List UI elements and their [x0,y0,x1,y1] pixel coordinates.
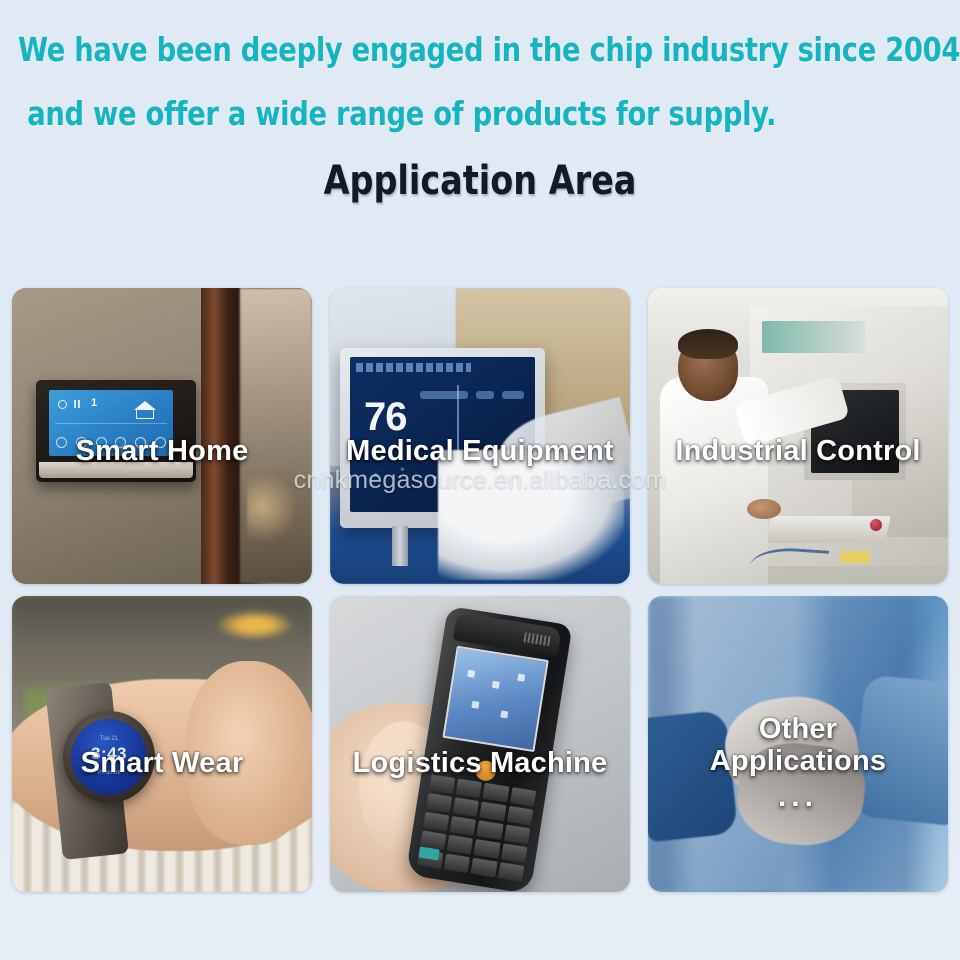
logistics-machine-scene [330,596,630,892]
card-label-smart-home: Smart Home [12,436,312,468]
monitor-reading: 76 [364,397,407,437]
card-label-smart-wear: Smart Wear [12,748,312,780]
monitor-pill-3 [502,391,524,399]
headline-line-1: We have been deeply engaged in the chip … [18,18,868,82]
application-area-banner: We have been deeply engaged in the chip … [0,0,960,960]
panel-day-value: 1 [91,397,97,409]
card-smart-wear[interactable]: Tue 21 3:43 Pleasant Smart Wear [12,596,312,892]
bars-icon [74,400,82,408]
card-label-other-applications: Other Applications ... [648,714,948,813]
technician-hair [678,329,738,359]
yellow-label [840,551,870,563]
card-other-applications[interactable]: Other Applications ... [648,596,948,892]
page-title: Application Area [34,158,927,204]
emergency-stop-button [870,519,882,531]
gloved-hand [438,450,624,580]
sun-icon [58,400,67,409]
card-medical-equipment[interactable]: 76 Medical Equipment [330,288,630,584]
terminal-screen [443,646,550,752]
application-card-grid: 1 Smart Home [12,288,948,892]
other-applications-line-1: Other [759,713,837,745]
technician-hand [747,499,781,519]
card-label-medical-equipment: Medical Equipment [330,436,630,468]
card-label-industrial-control: Industrial Control [648,436,948,468]
card-logistics-machine[interactable]: Logistics Machine [330,596,630,892]
smart-wear-scene: Tue 21 3:43 Pleasant [12,596,312,892]
monitor-pill-1 [420,391,468,399]
monitor-stand [392,526,408,566]
headline-line-2: and we offer a wide range of products fo… [18,82,868,146]
watch-date: Tue 21 [100,736,118,742]
card-smart-home[interactable]: 1 Smart Home [12,288,312,584]
house-icon [134,401,156,419]
other-applications-line-3: ... [648,780,948,813]
monitor-top-bar [356,363,471,372]
card-label-logistics-machine: Logistics Machine [330,748,630,780]
monitor-pill-2 [476,391,495,399]
terminal-keypad [417,774,536,882]
panel-divider [55,423,167,424]
headline-block: We have been deeply engaged in the chip … [0,18,960,146]
card-industrial-control[interactable]: Industrial Control [648,288,948,584]
other-applications-line-2: Applications [648,746,948,778]
